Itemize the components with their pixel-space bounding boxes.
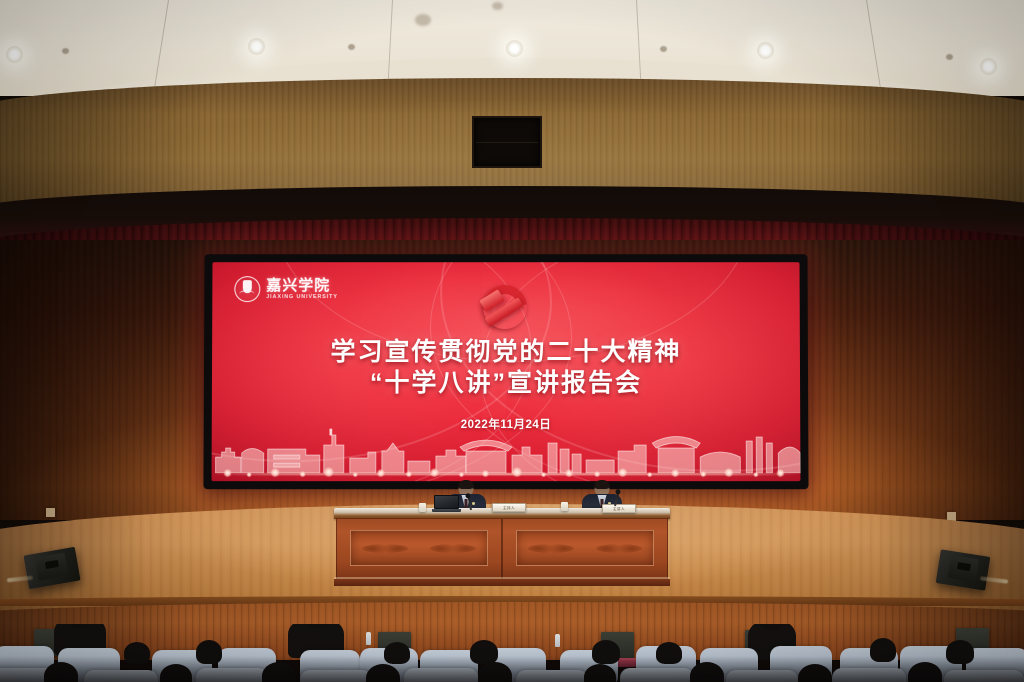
- university-name-block: 嘉兴学院 JIAXING UNIVERSITY: [266, 278, 338, 301]
- podium-panel: [350, 530, 488, 566]
- audience-head: [384, 642, 410, 664]
- auditorium-photo: 嘉兴学院 JIAXING UNIVERSITY 学习宣传贯彻党的二十大精神 “十…: [0, 0, 1024, 682]
- panel-motif: [596, 544, 642, 553]
- audience-area: [0, 624, 1024, 682]
- audience-seat[interactable]: [944, 670, 1024, 682]
- ceiling-downlight: [980, 58, 997, 75]
- ceiling-fixture-dot: [660, 46, 667, 52]
- person-hair: [595, 480, 610, 489]
- vent-seam: [476, 142, 538, 143]
- audience-seat[interactable]: [196, 668, 268, 682]
- university-seal-icon: [234, 276, 260, 302]
- city-skyline-graphic: [212, 423, 801, 481]
- person-hair: [459, 480, 474, 489]
- audience-head: [44, 662, 78, 682]
- podium-table: [334, 508, 670, 586]
- audience-seat[interactable]: [620, 668, 694, 682]
- ceiling-downlight: [248, 38, 265, 55]
- water-bottle: [366, 632, 371, 645]
- water-cup-right: [561, 502, 568, 511]
- panel-motif: [362, 544, 408, 553]
- podium-section-right: [502, 518, 668, 580]
- audience-head: [908, 662, 942, 682]
- audience-seat[interactable]: [726, 670, 798, 682]
- university-name-en: JIAXING UNIVERSITY: [266, 295, 338, 300]
- smoke-detector-icon: [492, 2, 503, 10]
- laptop-on-podium: [432, 495, 461, 512]
- skyline-bokeh-lights: [212, 461, 801, 477]
- university-logo: 嘉兴学院 JIAXING UNIVERSITY: [234, 276, 338, 302]
- ceiling-fixture-dot: [946, 54, 953, 60]
- audience-seat[interactable]: [832, 668, 906, 682]
- audience-head: [656, 642, 682, 664]
- podium-front: [336, 518, 668, 580]
- led-screen-content: 嘉兴学院 JIAXING UNIVERSITY 学习宣传贯彻党的二十大精神 “十…: [212, 262, 801, 481]
- nameplate-right-text: 主讲人: [603, 505, 635, 514]
- panel-motif: [528, 544, 574, 553]
- person-badge: [472, 502, 475, 505]
- audience-head: [470, 640, 498, 664]
- audience-seat[interactable]: [516, 670, 588, 682]
- cpc-hammer-sickle-icon: [467, 281, 545, 339]
- ceiling-fixture-dot: [348, 44, 355, 50]
- audience-head: [870, 638, 896, 662]
- smoke-detector-icon: [415, 14, 431, 26]
- audience-head: [124, 642, 150, 664]
- nameplate-left-text: 主持人: [493, 504, 525, 513]
- audience-seat[interactable]: [404, 668, 478, 682]
- headline-line-1: 学习宣传贯彻党的二十大精神: [212, 338, 800, 366]
- projection-vent-panel: [472, 116, 542, 168]
- ceiling-fixture-dot: [62, 48, 69, 54]
- ceiling-downlight: [757, 42, 774, 59]
- water-cup-left: [419, 503, 426, 512]
- podium-panel: [516, 530, 654, 566]
- audience-head: [592, 640, 620, 664]
- audience-head: [478, 662, 512, 682]
- nameplate-left: 主持人: [492, 503, 526, 512]
- audience-head: [946, 640, 974, 664]
- laptop-base: [432, 509, 461, 512]
- nameplate-right: 主讲人: [602, 504, 636, 513]
- audience-seat[interactable]: [84, 670, 158, 682]
- headline-line-2: “十学八讲”宣讲报告会: [212, 368, 800, 398]
- led-screen: 嘉兴学院 JIAXING UNIVERSITY 学习宣传贯彻党的二十大精神 “十…: [203, 254, 808, 489]
- audience-head: [690, 662, 724, 682]
- ceiling-downlight: [6, 46, 23, 63]
- audience-seat[interactable]: [300, 670, 372, 682]
- podium-section-left: [336, 518, 502, 580]
- university-name-cn: 嘉兴学院: [266, 278, 338, 293]
- wall-switch-left[interactable]: [46, 508, 55, 517]
- podium-base: [334, 579, 670, 586]
- laptop-screen: [434, 495, 459, 509]
- water-bottle: [555, 634, 560, 647]
- ceiling-downlight: [506, 40, 523, 57]
- audience-head: [262, 662, 296, 682]
- panel-motif: [430, 544, 476, 553]
- screen-headline: 学习宣传贯彻党的二十大精神 “十学八讲”宣讲报告会: [212, 338, 800, 398]
- audience-head: [196, 640, 222, 664]
